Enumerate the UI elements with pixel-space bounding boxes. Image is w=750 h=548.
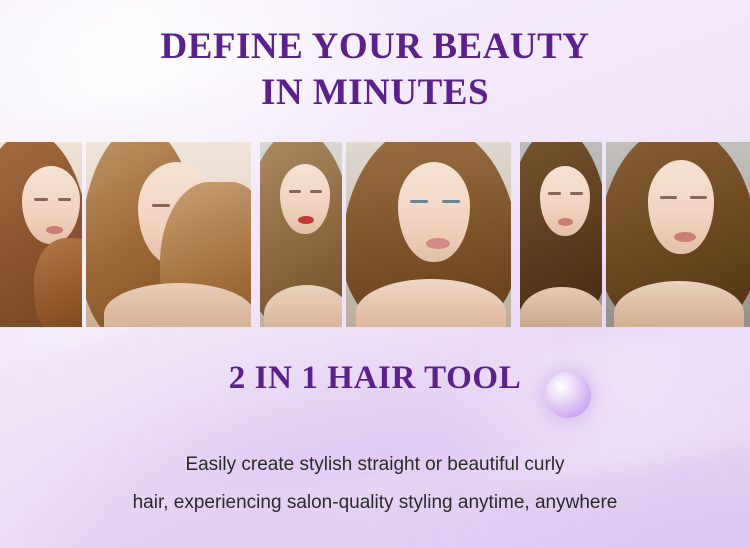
- photo-wavy-hair-portrait: [86, 142, 251, 327]
- headline-line-1: DEFINE YOUR BEAUTY: [160, 26, 589, 67]
- subheadline-block: 2 IN 1 HAIR TOOL: [0, 360, 750, 397]
- photo-curly-hair-left-crop: [0, 142, 82, 327]
- tagline: Easily create stylish straight or beauti…: [0, 446, 750, 522]
- hair-tool-product-banner: DEFINE YOUR BEAUTY IN MINUTES: [0, 0, 750, 548]
- photo-side-profile-crop: [520, 142, 602, 327]
- photo-volume-hair-crop: [260, 142, 342, 327]
- tagline-line-2: hair, experiencing salon-quality styling…: [0, 484, 750, 522]
- photo-sleek-hair-portrait: [606, 142, 750, 327]
- tagline-line-1: Easily create stylish straight or beauti…: [0, 446, 750, 484]
- banner-headline: DEFINE YOUR BEAUTY IN MINUTES: [0, 24, 750, 116]
- subheadline: 2 IN 1 HAIR TOOL: [0, 360, 750, 397]
- photo-strip: [0, 142, 750, 327]
- photo-straight-hair-portrait: [346, 142, 511, 327]
- headline-line-2: IN MINUTES: [0, 70, 750, 116]
